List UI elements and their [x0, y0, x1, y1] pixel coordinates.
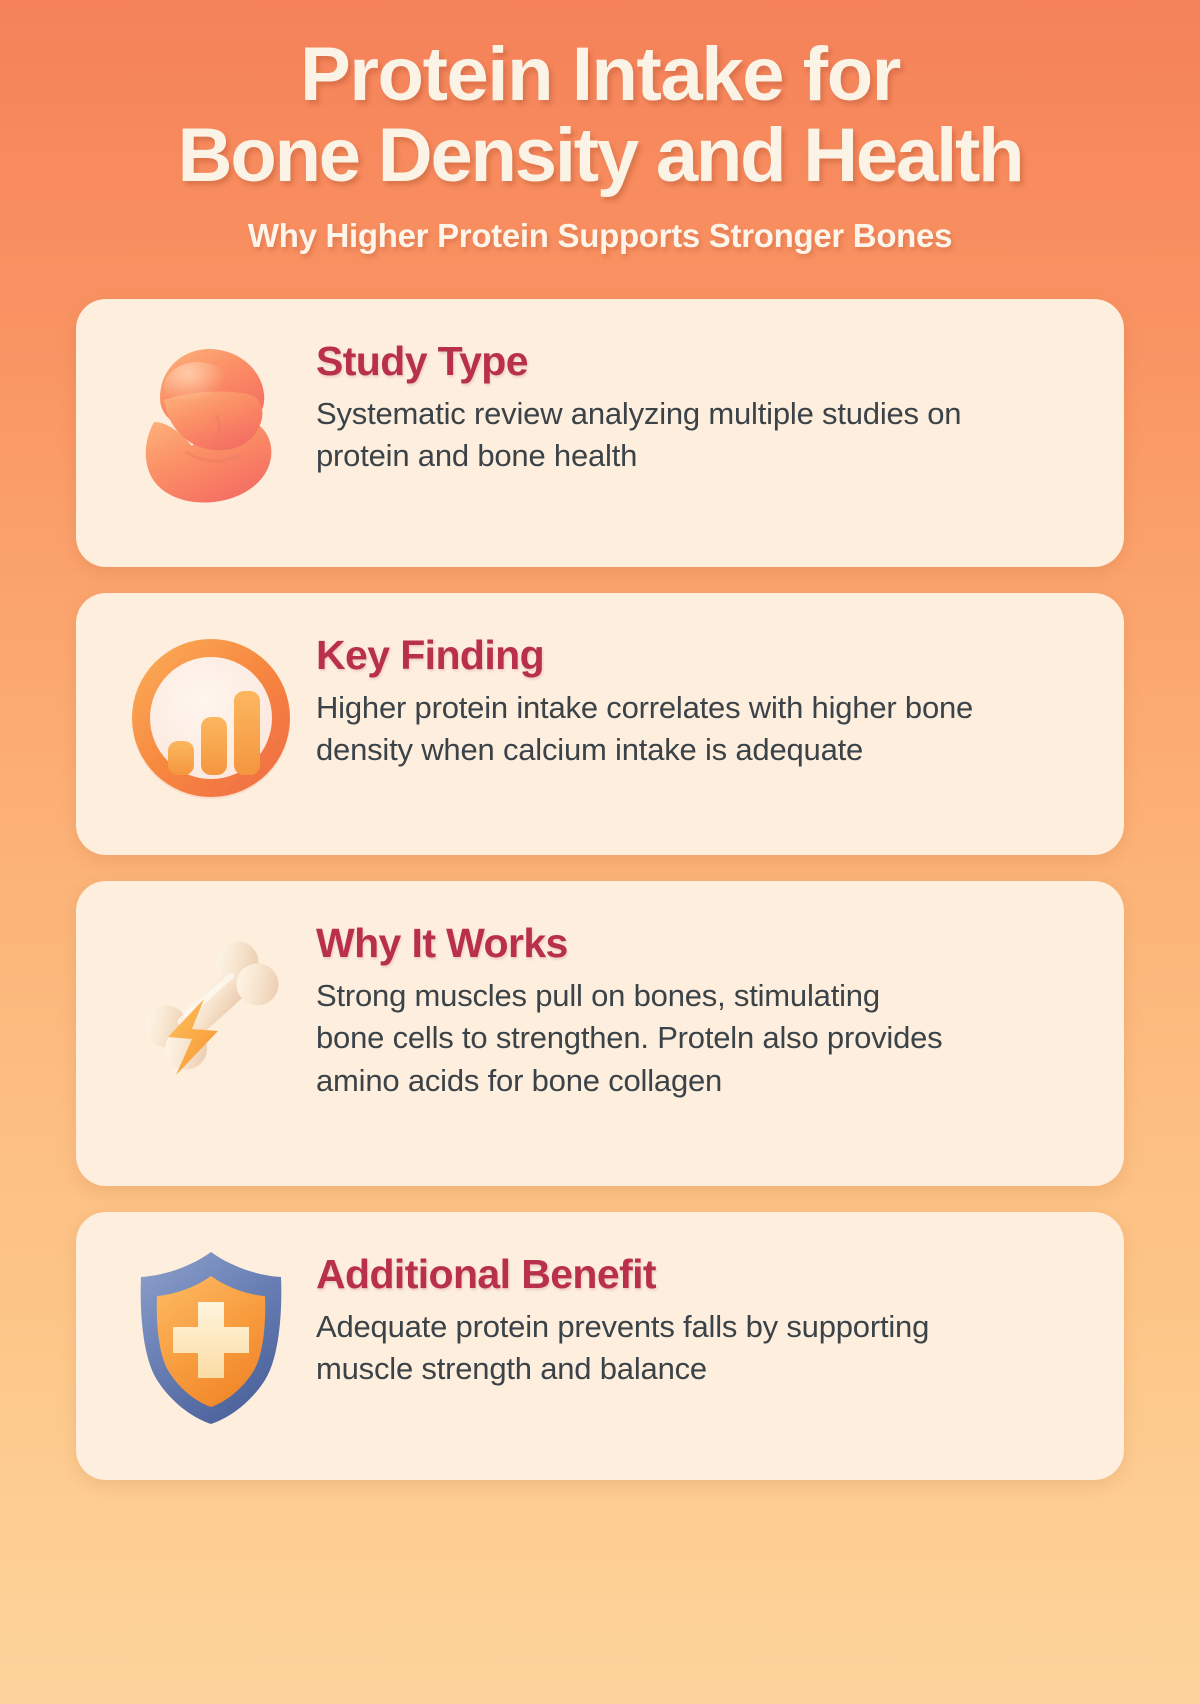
infographic-poster: Protein Intake for Bone Density and Heal… [0, 0, 1200, 1704]
card-list: Study Type Systematic review analyzing m… [76, 299, 1124, 1480]
card-text: Key Finding Higher protein intake correl… [316, 623, 1090, 772]
page-title: Protein Intake for Bone Density and Heal… [76, 34, 1124, 197]
card-study-type: Study Type Systematic review analyzing m… [76, 299, 1124, 567]
title-line-2: Bone Density and Health [76, 115, 1124, 196]
card-text: Study Type Systematic review analyzing m… [316, 329, 1090, 478]
poster-header: Protein Intake for Bone Density and Heal… [76, 0, 1124, 255]
card-title: Additional Benefit [316, 1252, 1090, 1297]
card-title: Why It Works [316, 921, 1090, 966]
card-body: Strong muscles pull on bones, stimulatin… [316, 975, 956, 1102]
card-body: Adequate protein prevents falls by suppo… [316, 1306, 936, 1391]
card-why-it-works: Why It Works Strong muscles pull on bone… [76, 881, 1124, 1186]
card-text: Why It Works Strong muscles pull on bone… [316, 911, 1090, 1103]
card-key-finding: Key Finding Higher protein intake correl… [76, 593, 1124, 855]
title-line-1: Protein Intake for [76, 34, 1124, 115]
bar-chart-circle-icon [106, 623, 316, 813]
card-body: Systematic review analyzing multiple stu… [316, 393, 976, 478]
card-text: Additional Benefit Adequate protein prev… [316, 1242, 1090, 1391]
page-subtitle: Why Higher Protein Supports Stronger Bon… [76, 217, 1124, 255]
shield-cross-icon [106, 1242, 316, 1432]
bone-lightning-icon [106, 911, 316, 1101]
flexed-bicep-icon [106, 329, 316, 519]
card-additional-benefit: Additional Benefit Adequate protein prev… [76, 1212, 1124, 1480]
card-body: Higher protein intake correlates with hi… [316, 687, 976, 772]
card-title: Key Finding [316, 633, 1090, 678]
card-title: Study Type [316, 339, 1090, 384]
